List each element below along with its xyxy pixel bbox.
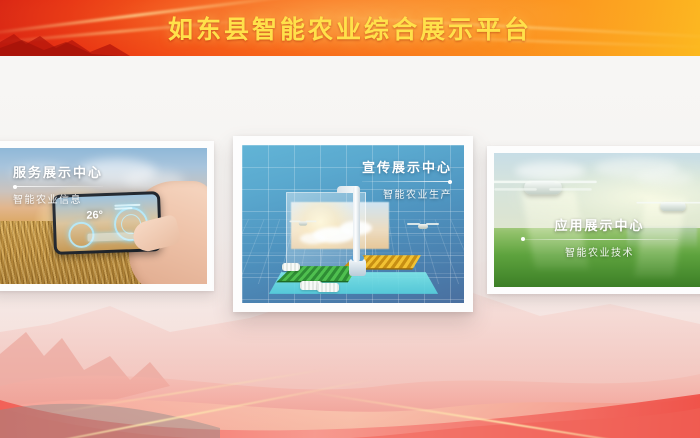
caption-divider xyxy=(521,239,677,240)
card-subtitle: 智能农业技术 xyxy=(494,244,700,259)
hay-bale xyxy=(282,263,300,271)
card-service-center[interactable]: 26° 服务展示中心 智能农业信息 xyxy=(0,141,214,291)
ray-mid xyxy=(42,367,339,416)
ray-right xyxy=(303,390,700,438)
card-service-image: 26° 服务展示中心 智能农业信息 xyxy=(0,148,207,284)
irrigation-pole xyxy=(353,186,360,262)
caption-divider xyxy=(362,181,452,182)
card-service-caption: 服务展示中心 智能农业信息 xyxy=(13,162,103,206)
drone-icon xyxy=(418,224,428,229)
drone-icon xyxy=(524,181,562,195)
drone-icon xyxy=(660,202,686,211)
card-title: 应用展示中心 xyxy=(494,215,700,234)
rotor xyxy=(305,220,316,222)
card-application-image: 应用展示中心 智能农业技术 xyxy=(494,153,700,287)
poster-page: 如东县智能农业综合展示平台 26° xyxy=(0,0,700,438)
temperature-readout: 26° xyxy=(86,209,103,222)
drone-icon xyxy=(298,221,307,225)
card-subtitle: 智能农业生产 xyxy=(362,186,452,201)
rotor xyxy=(426,223,439,225)
header-banner: 如东县智能农业综合展示平台 xyxy=(0,0,700,56)
card-promotion-caption: 宣传展示中心 智能农业生产 xyxy=(362,157,452,201)
cloud xyxy=(515,162,585,180)
hud-bar xyxy=(115,203,141,206)
card-title: 宣传展示中心 xyxy=(362,157,452,176)
cloud xyxy=(637,170,693,185)
card-title: 服务展示中心 xyxy=(13,162,103,181)
rotor xyxy=(289,220,300,222)
card-promotion-center[interactable]: 宣传展示中心 智能农业生产 xyxy=(233,136,473,312)
card-application-center[interactable]: 应用展示中心 智能农业技术 xyxy=(487,146,700,294)
rotor xyxy=(637,202,666,204)
hud-panel xyxy=(87,232,133,242)
card-subtitle: 智能农业信息 xyxy=(13,191,103,206)
card-application-caption: 应用展示中心 智能农业技术 xyxy=(494,215,700,259)
ray-left xyxy=(0,378,376,438)
page-title: 如东县智能农业综合展示平台 xyxy=(0,0,700,56)
caption-divider xyxy=(13,186,103,187)
rotor xyxy=(681,202,700,204)
hay-bale xyxy=(317,283,339,292)
rotor xyxy=(407,223,420,225)
card-promotion-image: 宣传展示中心 智能农业生产 xyxy=(242,145,464,303)
